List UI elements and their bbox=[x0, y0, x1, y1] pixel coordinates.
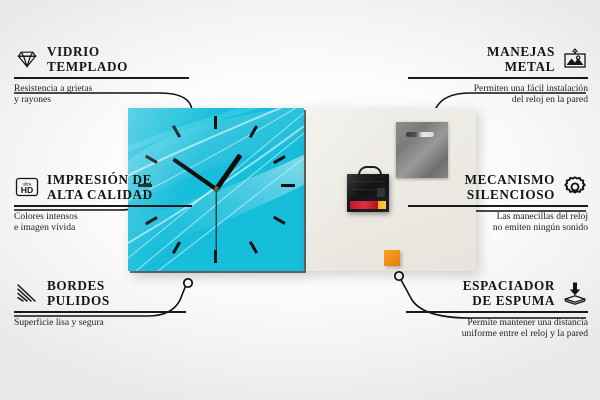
clock-second-hand bbox=[215, 189, 216, 251]
divider bbox=[408, 77, 588, 79]
feature-title: VIDRIO TEMPLADO bbox=[47, 44, 128, 74]
svg-text:HD: HD bbox=[21, 185, 33, 195]
clock-tick bbox=[281, 184, 295, 187]
clock-tick bbox=[214, 116, 217, 129]
clock-tick bbox=[214, 250, 217, 263]
feature-silent-mechanism: MECANISMO SILENCIOSO Las manecillas del … bbox=[408, 172, 588, 233]
connector-dot-foam-spacer bbox=[395, 272, 403, 280]
divider bbox=[14, 205, 192, 207]
orange-foam-spacer bbox=[384, 250, 400, 266]
aa-battery bbox=[350, 201, 386, 209]
gear-icon bbox=[562, 174, 588, 200]
feature-hd-print: ultra HD IMPRESIÓN DE ALTA CALIDAD Color… bbox=[14, 172, 192, 233]
ultra-hd-icon: ultra HD bbox=[14, 174, 40, 200]
feature-description: Permite mantener una distancia uniforme … bbox=[406, 317, 588, 340]
feature-description: Superficie lisa y segura bbox=[14, 317, 186, 328]
feature-title: MECANISMO SILENCIOSO bbox=[465, 172, 555, 202]
wall-picture-hanger-icon bbox=[562, 46, 588, 72]
feature-title: BORDES PULIDOS bbox=[47, 278, 110, 308]
feature-metal-handles: MANEJAS METAL Permiten una fácil instala… bbox=[408, 44, 588, 105]
divider bbox=[14, 311, 186, 313]
infographic-canvas: VIDRIO TEMPLADO Resistencia a grietas y … bbox=[0, 0, 600, 400]
divider bbox=[406, 311, 588, 313]
feature-tempered-glass: VIDRIO TEMPLADO Resistencia a grietas y … bbox=[14, 44, 189, 105]
feature-title: MANEJAS METAL bbox=[487, 44, 555, 74]
diagonal-stripes-icon bbox=[14, 280, 40, 306]
feature-description: Colores intensos e imagen vívida bbox=[14, 211, 192, 234]
feature-description: Las manecillas del reloj no emiten ningú… bbox=[408, 211, 588, 234]
hanger-keyhole-slot bbox=[406, 132, 434, 137]
feature-title: IMPRESIÓN DE ALTA CALIDAD bbox=[47, 172, 153, 202]
clock-center-hub bbox=[214, 186, 219, 191]
feature-title: ESPACIADOR DE ESPUMA bbox=[463, 278, 555, 308]
divider bbox=[408, 205, 588, 207]
metal-hanger-plate bbox=[396, 122, 448, 178]
feature-description: Resistencia a grietas y rayones bbox=[14, 83, 189, 106]
diamond-icon bbox=[14, 46, 40, 72]
feature-polished-edges: BORDES PULIDOS Superficie lisa y segura bbox=[14, 278, 186, 328]
arrow-down-onto-pad-icon bbox=[562, 280, 588, 306]
divider bbox=[14, 77, 189, 79]
feature-description: Permiten una fácil instalación del reloj… bbox=[408, 83, 588, 106]
mechanism-hanger-loop bbox=[358, 166, 382, 178]
feature-foam-spacer: ESPACIADOR DE ESPUMA Permite mantener un… bbox=[406, 278, 588, 339]
silent-quartz-mechanism bbox=[347, 174, 389, 212]
